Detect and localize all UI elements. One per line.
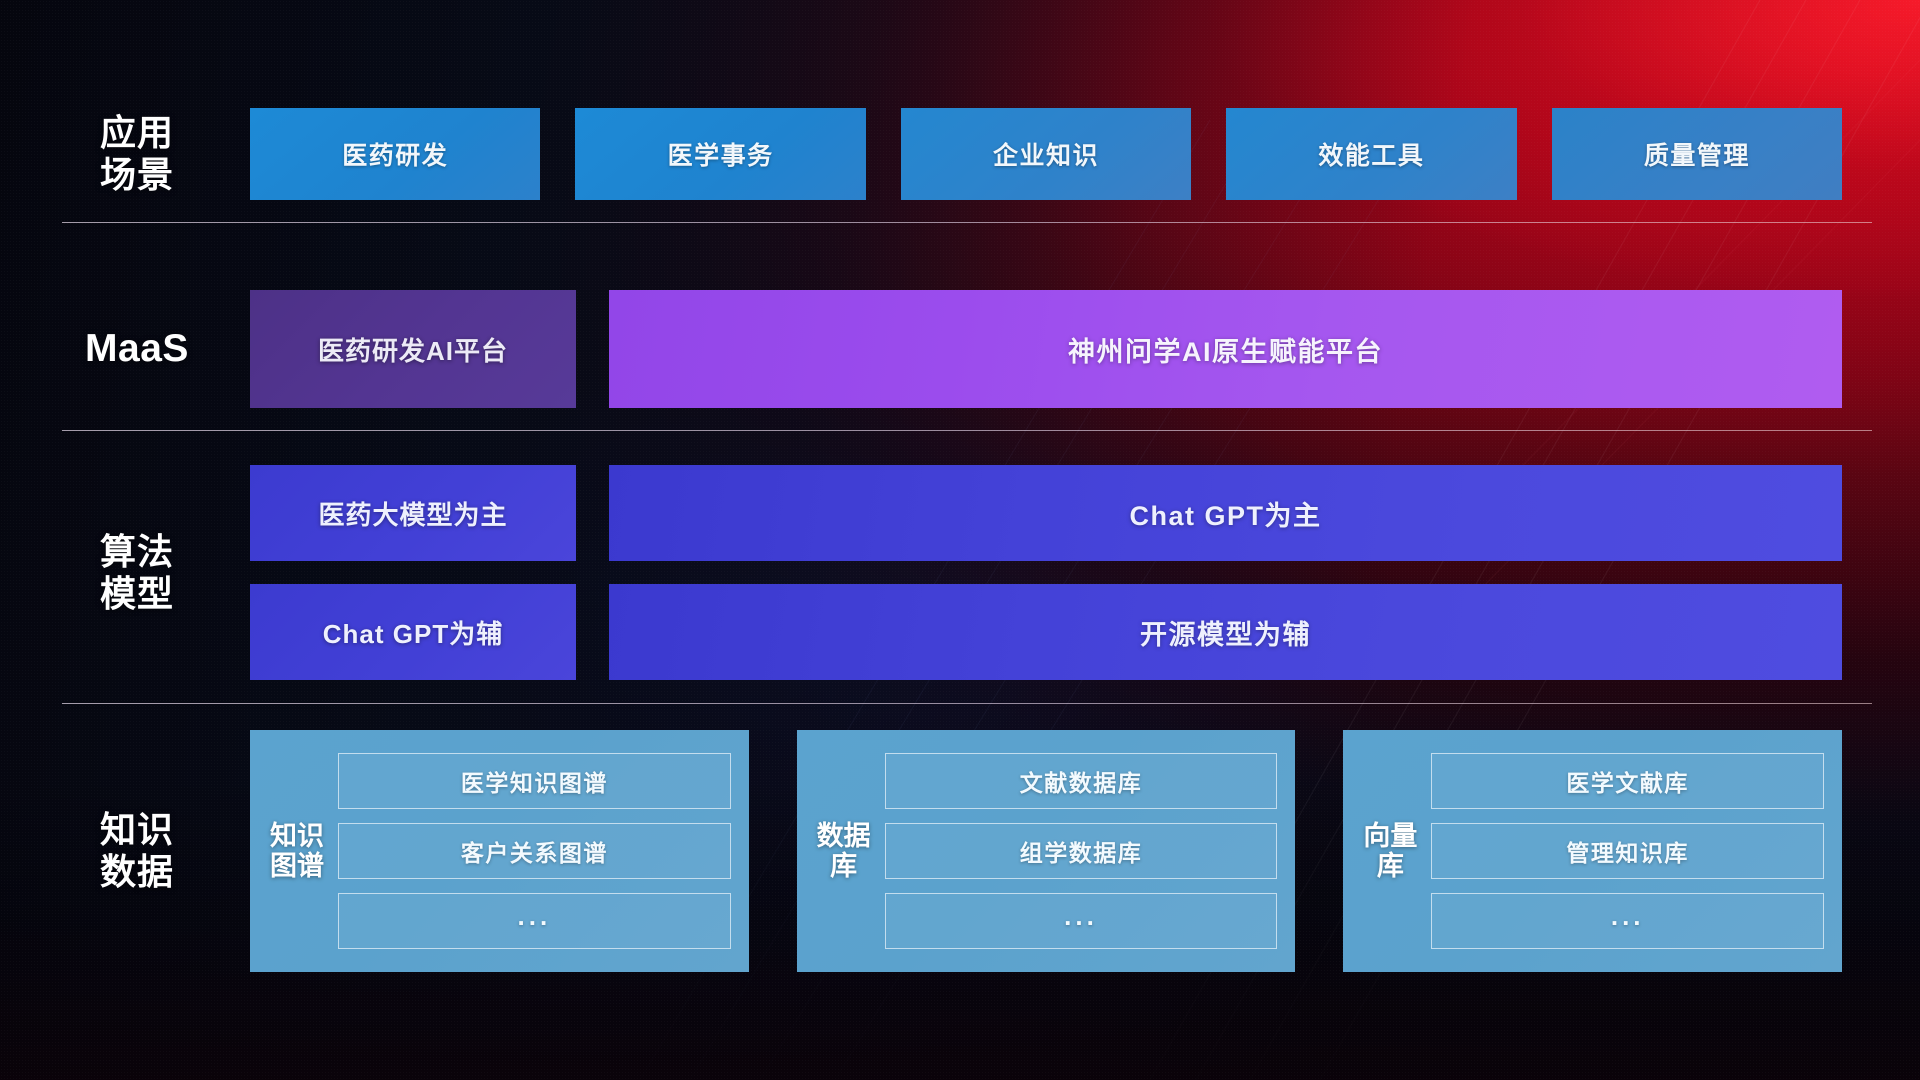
row-label-applications-line2: 场景 — [62, 154, 212, 196]
knowledge-item-more-knowledge-graph[interactable]: ... — [338, 893, 731, 949]
row-label-knowledge-line1: 知识 — [62, 809, 212, 851]
knowledge-card-vector-store[interactable]: 向量库 医学文献库 管理知识库 ... — [1343, 730, 1842, 972]
app-box-medical-affairs[interactable]: 医学事务 — [575, 108, 865, 200]
row-label-maas: MaaS — [62, 290, 212, 408]
knowledge-card-label-knowledge-graph: 知识图谱 — [264, 821, 330, 881]
knowledge-item-medical-knowledge-graph[interactable]: 医学知识图谱 — [338, 753, 731, 809]
knowledge-item-more-database[interactable]: ... — [885, 893, 1278, 949]
maas-row: 医药研发AI平台 神州问学AI原生赋能平台 — [250, 290, 1842, 408]
knowledge-item-customer-relation-graph[interactable]: 客户关系图谱 — [338, 823, 731, 879]
knowledge-item-more-vector-store[interactable]: ... — [1431, 893, 1824, 949]
row-label-maas-text: MaaS — [62, 326, 212, 371]
knowledge-data-row: 知识图谱 医学知识图谱 客户关系图谱 ... 数据库 文献数据库 组学数据库 .… — [250, 730, 1842, 972]
row-label-applications: 应用 场景 — [62, 108, 212, 200]
knowledge-item-omics-database[interactable]: 组学数据库 — [885, 823, 1278, 879]
divider-maas-algorithm — [62, 430, 1872, 431]
app-box-efficiency-tools[interactable]: 效能工具 — [1226, 108, 1516, 200]
knowledge-card-database[interactable]: 数据库 文献数据库 组学数据库 ... — [797, 730, 1296, 972]
algo-box-pharma-llm-primary[interactable]: 医药大模型为主 — [250, 465, 576, 561]
knowledge-item-medical-literature-store[interactable]: 医学文献库 — [1431, 753, 1824, 809]
divider-applications-maas — [62, 222, 1872, 223]
knowledge-card-label-vector-store: 向量库 — [1357, 821, 1423, 881]
algorithm-line-secondary: Chat GPT为辅 开源模型为辅 — [250, 584, 1842, 680]
knowledge-item-list-knowledge-graph: 医学知识图谱 客户关系图谱 ... — [338, 753, 731, 949]
row-label-algorithm-line1: 算法 — [62, 531, 212, 573]
maas-box-shenzhou-wenxue-platform[interactable]: 神州问学AI原生赋能平台 — [609, 290, 1842, 408]
algorithm-model-row: 医药大模型为主 Chat GPT为主 Chat GPT为辅 开源模型为辅 — [250, 465, 1842, 680]
knowledge-card-label-database: 数据库 — [811, 821, 877, 881]
maas-box-pharma-ai-platform[interactable]: 医药研发AI平台 — [250, 290, 576, 408]
app-box-enterprise-knowledge[interactable]: 企业知识 — [901, 108, 1191, 200]
knowledge-card-knowledge-graph[interactable]: 知识图谱 医学知识图谱 客户关系图谱 ... — [250, 730, 749, 972]
row-label-applications-line1: 应用 — [62, 112, 212, 154]
knowledge-item-list-vector-store: 医学文献库 管理知识库 ... — [1431, 753, 1824, 949]
row-label-algorithm-line2: 模型 — [62, 573, 212, 615]
row-label-knowledge: 知识 数据 — [62, 730, 212, 972]
algo-box-opensource-secondary[interactable]: 开源模型为辅 — [609, 584, 1842, 680]
app-box-medical-rd[interactable]: 医药研发 — [250, 108, 540, 200]
algorithm-line-primary: 医药大模型为主 Chat GPT为主 — [250, 465, 1842, 561]
algo-box-chatgpt-secondary[interactable]: Chat GPT为辅 — [250, 584, 576, 680]
knowledge-item-list-database: 文献数据库 组学数据库 ... — [885, 753, 1278, 949]
knowledge-item-literature-database[interactable]: 文献数据库 — [885, 753, 1278, 809]
divider-algorithm-knowledge — [62, 703, 1872, 704]
diagram-content: 应用 场景 医药研发 医学事务 企业知识 效能工具 质量管理 MaaS 医药研发… — [0, 0, 1920, 1080]
row-label-algorithm: 算法 模型 — [62, 465, 212, 680]
knowledge-item-management-knowledge-store[interactable]: 管理知识库 — [1431, 823, 1824, 879]
slide-canvas: 应用 场景 医药研发 医学事务 企业知识 效能工具 质量管理 MaaS 医药研发… — [0, 0, 1920, 1080]
algo-box-chatgpt-primary[interactable]: Chat GPT为主 — [609, 465, 1842, 561]
row-label-knowledge-line2: 数据 — [62, 851, 212, 893]
application-scenarios-row: 医药研发 医学事务 企业知识 效能工具 质量管理 — [250, 108, 1842, 200]
app-box-quality-management[interactable]: 质量管理 — [1552, 108, 1842, 200]
